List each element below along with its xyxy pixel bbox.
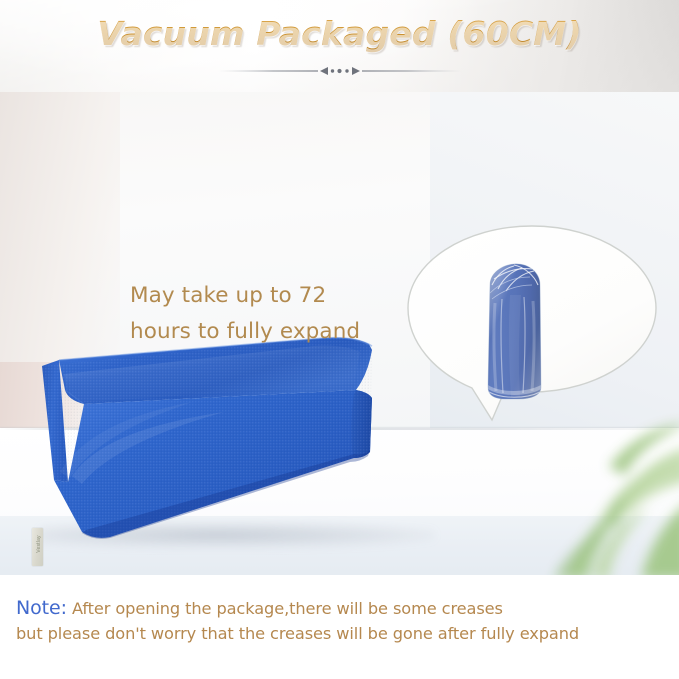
expand-time-callout-line2: hours to fully expand — [130, 314, 420, 350]
note-line1-text: After opening the package,there will be … — [72, 599, 503, 618]
note-label: Note: — [16, 597, 67, 619]
product-brand-tag-label: Vestlay — [36, 528, 42, 562]
product-infographic: Vacuum Packaged (60CM) Vacuum Packaged (… — [0, 0, 679, 679]
vacuum-packed-foam-roll — [480, 259, 548, 401]
page-title: Vacuum Packaged (60CM) — [0, 14, 679, 53]
expand-time-callout: May take up to 72 hours to fully expand — [130, 278, 420, 350]
double-arrow-divider-icon — [218, 64, 462, 78]
note-text: Note: After opening the package,there wi… — [16, 596, 671, 646]
title-banner: Vacuum Packaged (60CM) Vacuum Packaged (… — [0, 0, 679, 92]
product-brand-tag: Vestlay — [32, 528, 43, 566]
expand-time-callout-line1: May take up to 72 — [130, 278, 420, 314]
note-band: Note: After opening the package,there wi… — [0, 575, 679, 679]
note-line2: but please don't worry that the creases … — [16, 621, 671, 646]
note-line1: Note: After opening the package,there wi… — [16, 596, 671, 621]
blue-foam-wedge-pillow — [24, 332, 444, 547]
product-photo: Vestlay — [0, 92, 679, 575]
